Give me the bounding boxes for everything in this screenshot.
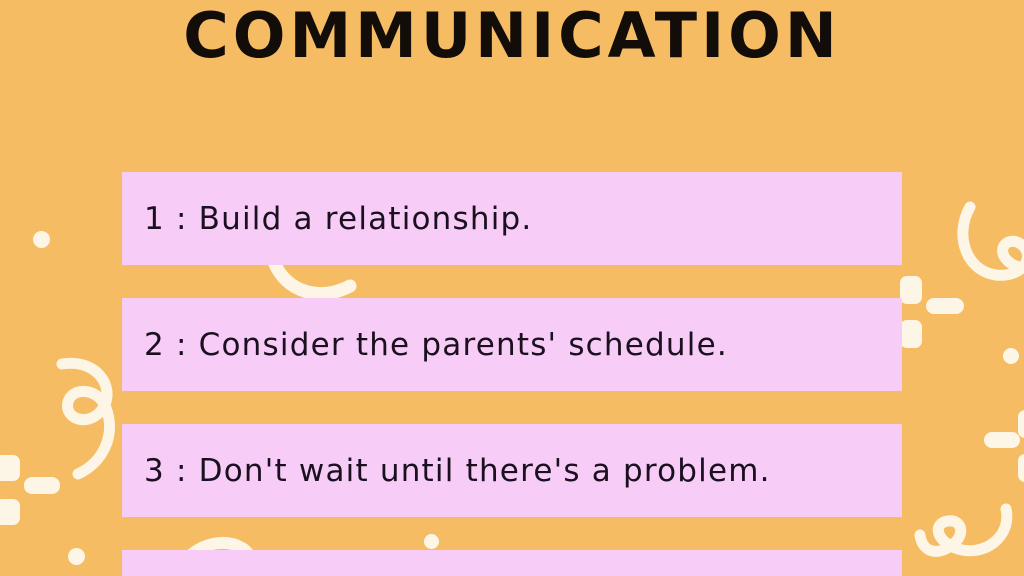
spiral-squiggle-icon-right-bottom bbox=[918, 503, 1014, 576]
list-item[interactable] bbox=[122, 550, 902, 576]
dot-icon-left-upper bbox=[33, 231, 50, 248]
dot-icon-right-middle bbox=[1003, 348, 1019, 364]
spiral-squiggle-icon-right-upper bbox=[952, 195, 1024, 305]
page-title: COMMUNICATION bbox=[0, 0, 1024, 78]
plus-dash-icon-right-upper bbox=[896, 276, 958, 348]
plus-dash-icon-left-lower bbox=[0, 455, 54, 525]
list-item-label: 3 : Don't wait until there's a problem. bbox=[144, 453, 771, 489]
list-item[interactable]: 1 : Build a relationship. bbox=[122, 172, 902, 265]
list-item-label: 2 : Consider the parents' schedule. bbox=[144, 327, 728, 363]
plus-dash-icon-right-lower bbox=[984, 410, 1024, 482]
list-item[interactable]: 2 : Consider the parents' schedule. bbox=[122, 298, 902, 391]
spiral-squiggle-icon-left-middle bbox=[54, 354, 124, 484]
dot-icon-left-lower bbox=[68, 548, 85, 565]
poster-canvas: COMMUNICATION 1 : Build a relationship. … bbox=[0, 0, 1024, 576]
list-item-label: 1 : Build a relationship. bbox=[144, 201, 532, 237]
list-item[interactable]: 3 : Don't wait until there's a problem. bbox=[122, 424, 902, 517]
tips-list: 1 : Build a relationship. 2 : Consider t… bbox=[122, 172, 902, 576]
